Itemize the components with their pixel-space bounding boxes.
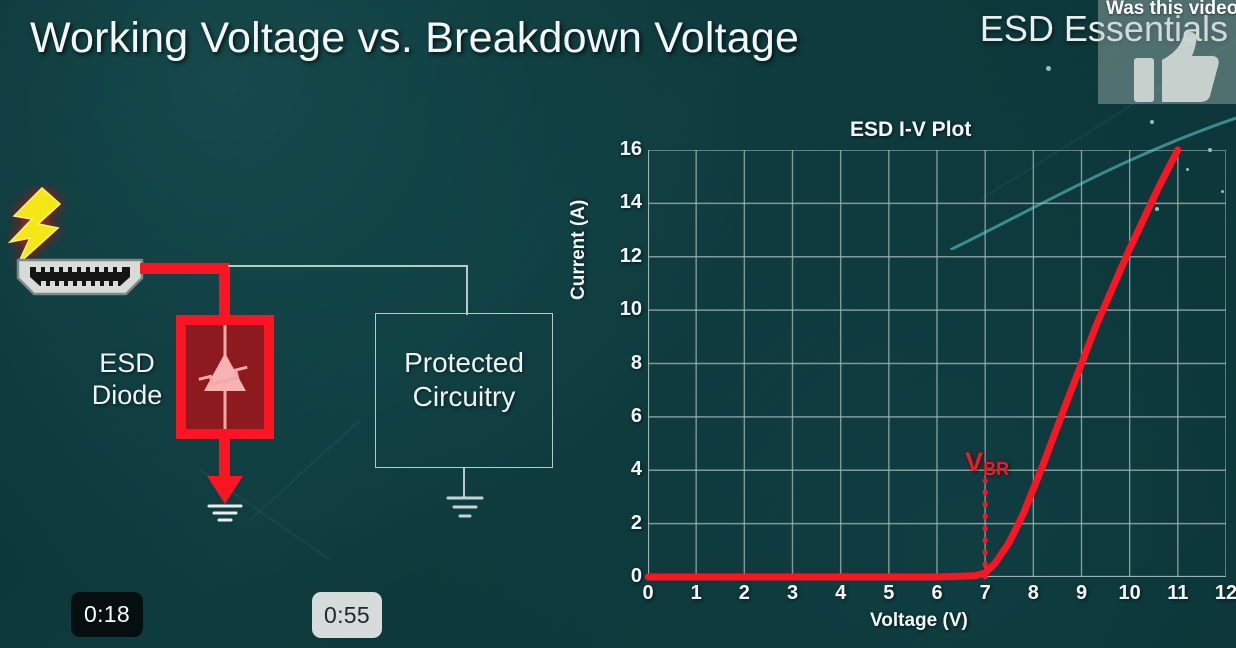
ground-symbol-red — [203, 470, 247, 526]
esd-diode-label: ESD Diode — [84, 348, 170, 412]
chart-title: ESD I-V Plot — [850, 118, 971, 142]
y-tick-label: 4 — [608, 458, 642, 481]
y-tick-label: 8 — [608, 352, 642, 375]
plot-area — [648, 150, 1226, 577]
y-axis-ticks: 0246810121416 — [580, 150, 642, 577]
ground-symbol-grey — [444, 494, 486, 528]
wire-grey-down — [466, 265, 468, 315]
x-tick-label: 6 — [917, 582, 957, 605]
y-tick-label: 16 — [608, 138, 642, 161]
esd-iv-chart: ESD I-V Plot Current (A) Voltage (V) 024… — [580, 110, 1236, 648]
x-tick-label: 9 — [1062, 582, 1102, 605]
y-tick-label: 10 — [608, 298, 642, 321]
x-tick-label: 1 — [676, 582, 716, 605]
x-tick-label: 11 — [1158, 582, 1198, 605]
wire-grey-top — [228, 265, 468, 267]
thumbs-up-icon[interactable] — [1134, 30, 1220, 104]
x-axis-ticks: 0123456789101112 — [648, 582, 1226, 610]
x-tick-label: 10 — [1110, 582, 1150, 605]
circuit-diagram: ESD Diode Protected Circuitry — [0, 180, 600, 550]
protected-circuitry-label: Protected Circuitry — [376, 346, 552, 413]
wire-red-top — [140, 263, 230, 274]
sparkle — [1046, 66, 1051, 71]
y-tick-label: 12 — [608, 245, 642, 268]
y-tick-label: 14 — [608, 191, 642, 214]
x-tick-label: 2 — [724, 582, 764, 605]
wire-red-down — [219, 263, 230, 323]
survey-overlay[interactable]: Was this video — [1098, 0, 1236, 104]
x-tick-label: 5 — [869, 582, 909, 605]
iv-curve — [648, 150, 1226, 577]
esd-diode-block — [176, 315, 274, 439]
y-tick-label: 2 — [608, 512, 642, 535]
breakdown-voltage-label: VBR — [965, 447, 1009, 480]
survey-prompt: Was this video — [1106, 0, 1236, 20]
y-tick-label: 6 — [608, 405, 642, 428]
x-tick-label: 0 — [628, 582, 668, 605]
slide-stage: Working Voltage vs. Breakdown Voltage ES… — [0, 0, 1236, 648]
x-tick-label: 7 — [965, 582, 1005, 605]
x-tick-label: 3 — [773, 582, 813, 605]
elapsed-time-chip[interactable]: 0:18 — [71, 592, 143, 637]
hdmi-connector-icon — [14, 256, 144, 296]
x-tick-label: 4 — [821, 582, 861, 605]
duration-time-chip[interactable]: 0:55 — [312, 592, 382, 638]
x-tick-label: 8 — [1013, 582, 1053, 605]
tvs-diode-symbol — [186, 325, 264, 429]
slide-title: Working Voltage vs. Breakdown Voltage — [30, 14, 799, 63]
protected-circuitry-block: Protected Circuitry — [375, 313, 553, 468]
x-tick-label: 12 — [1206, 582, 1236, 605]
x-axis-label: Voltage (V) — [870, 610, 968, 632]
